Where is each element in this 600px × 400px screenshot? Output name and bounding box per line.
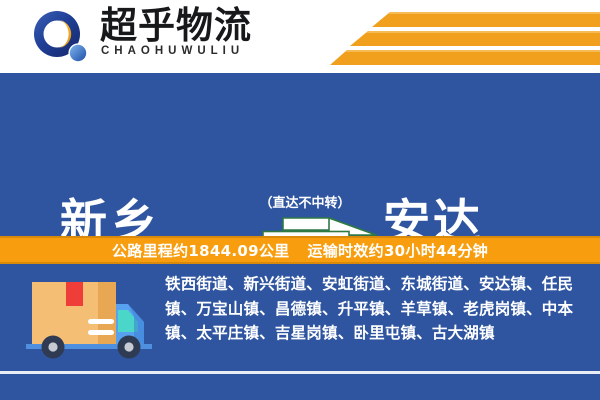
coverage-section: 铁西街道、新兴街道、安虹街道、东城街道、安达镇、任民镇、万宝山镇、昌德镇、升平镇… bbox=[0, 264, 600, 400]
duration-text: 运输时效约30小时44分钟 bbox=[307, 240, 488, 261]
brand-name-en: CHAOHUWULIU bbox=[101, 45, 244, 58]
logistics-route-banner: 超乎物流 CHAOHUWULIU 新乡 （直达不中转） 【往返 bbox=[0, 0, 600, 400]
distance-text: 公路里程约1844.09公里 bbox=[112, 240, 290, 261]
speed-stripes bbox=[330, 0, 600, 73]
coverage-areas-text: 铁西街道、新兴街道、安虹街道、东城街道、安达镇、任民镇、万宝山镇、昌德镇、升平镇… bbox=[165, 272, 589, 346]
direct-service-note: （直达不中转） bbox=[239, 196, 371, 211]
delivery-truck-icon bbox=[22, 276, 154, 368]
route-band: 新乡 （直达不中转） 【往返运输】 安达 bbox=[0, 73, 600, 236]
brand-name-cn: 超乎物流 bbox=[100, 6, 252, 46]
footer-divider bbox=[0, 371, 600, 374]
speed-stripes-icon bbox=[330, 0, 600, 73]
metrics-bar: 公路里程约1844.09公里 运输时效约30小时44分钟 bbox=[0, 236, 600, 264]
banner-header: 超乎物流 CHAOHUWULIU bbox=[0, 0, 600, 73]
delivery-truck bbox=[22, 276, 154, 368]
company-logo bbox=[33, 9, 91, 65]
circle-crescent-logo-icon bbox=[33, 9, 91, 65]
